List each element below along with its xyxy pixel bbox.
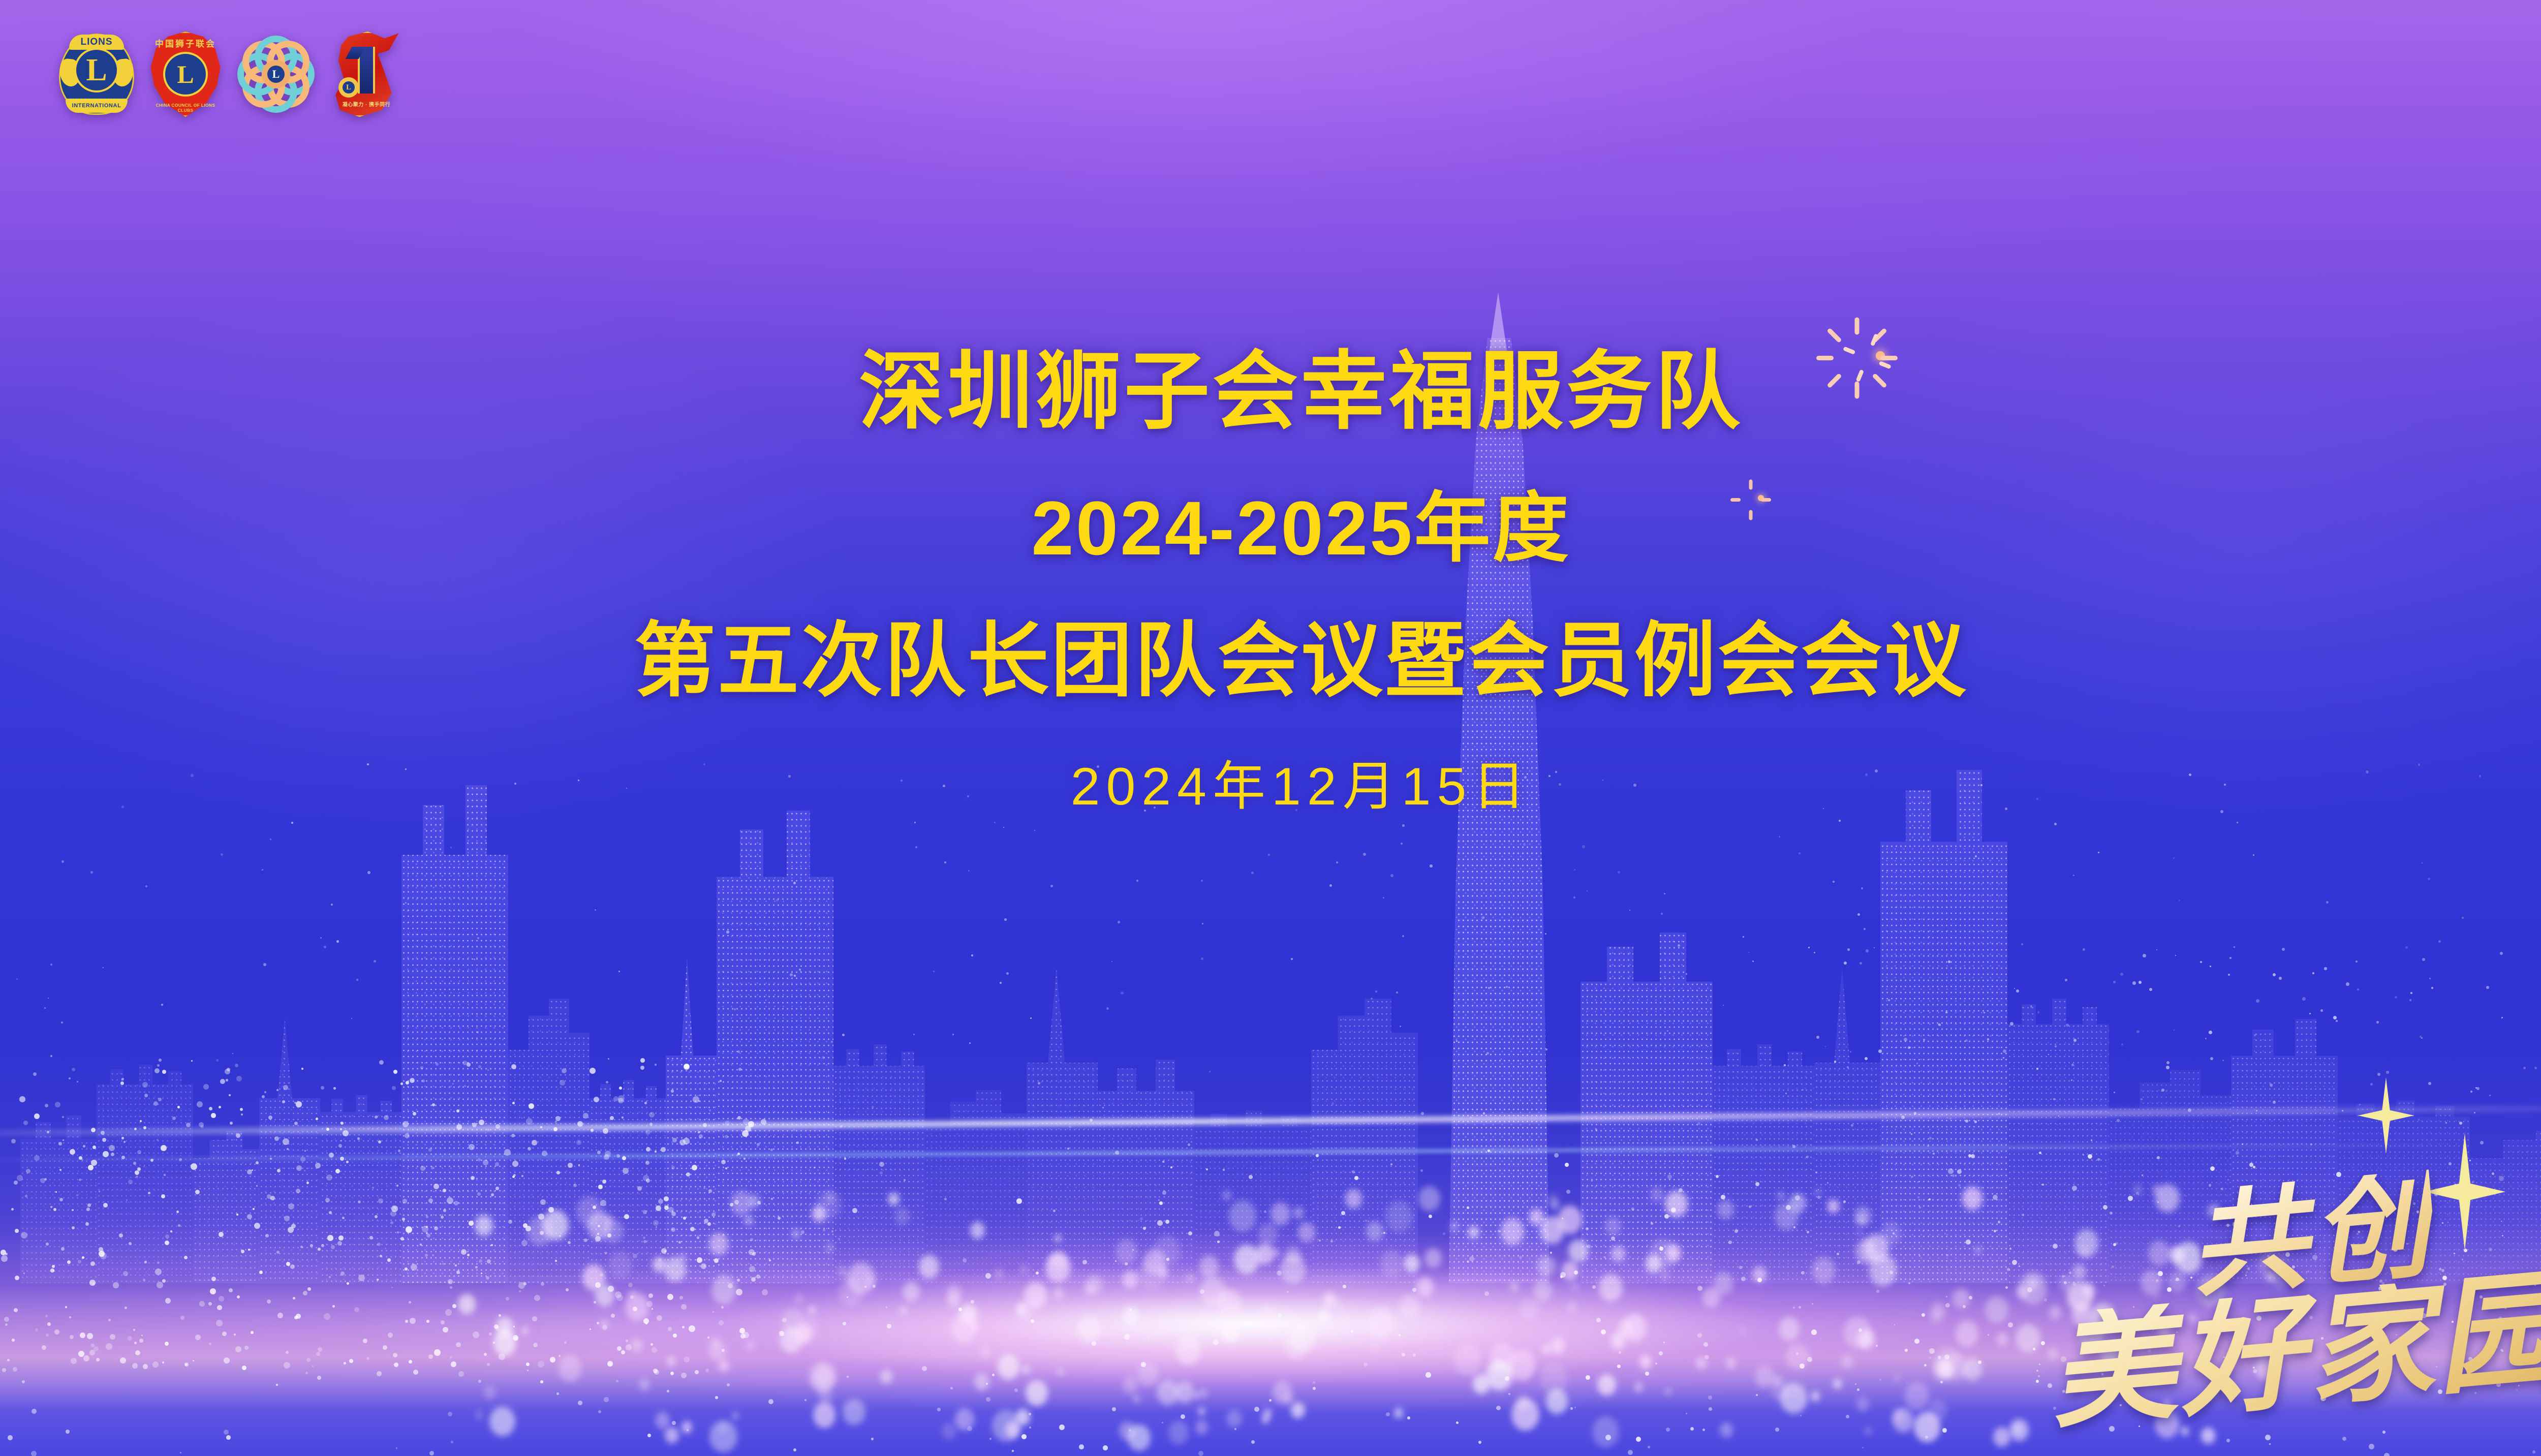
logo-china-council-lions[interactable]: 中国狮子联会 L CHINA COUNCIL OF LIONS CLUBS xyxy=(147,29,224,119)
china-council-en-text: CHINA COUNCIL OF LIONS CLUBS xyxy=(147,103,224,113)
anniversary-center-letter: L xyxy=(343,81,355,94)
logo-row: LIONS L INTERNATIONAL 中国狮子联会 L CHINA COU… xyxy=(57,28,405,120)
anniversary-slogan: 凝心聚力 · 携手同行 xyxy=(328,100,405,108)
meeting-subtitle: 第五次队长团队会议暨会员例会会议 xyxy=(634,620,1968,701)
sky-glow-left xyxy=(0,178,1016,940)
china-council-cn-text: 中国狮子联会 xyxy=(147,37,224,49)
sparkle-burst-icon xyxy=(1809,285,1951,427)
logo-shenzhen-lions-anniversary[interactable]: L 凝心聚力 · 携手同行 xyxy=(328,28,405,120)
anniversary-numeral xyxy=(358,47,375,94)
lions-bottom-text: INTERNATIONAL xyxy=(66,99,128,113)
fiscal-year-label: 2024-2025年度 xyxy=(1031,490,1570,566)
page-title: 深圳狮子会幸福服务队 xyxy=(859,349,1743,434)
mini-sparkle-icon xyxy=(1723,460,1799,536)
calligraphy-slogan: 共创 美好家园 xyxy=(2049,1186,2541,1412)
four-point-star-icon xyxy=(2358,1077,2414,1154)
meeting-date: 2024年12月15日 xyxy=(1071,760,1532,813)
rings-center-letter: L xyxy=(267,66,285,83)
logo-lions-rings-emblem[interactable]: L xyxy=(235,33,317,115)
poster-canvas: LIONS L INTERNATIONAL 中国狮子联会 L CHINA COU… xyxy=(0,0,2541,1456)
logo-lions-international[interactable]: LIONS L INTERNATIONAL xyxy=(57,30,136,118)
lions-center-letter: L xyxy=(76,50,117,90)
light-streak xyxy=(0,1104,2541,1136)
china-council-center-letter: L xyxy=(163,52,208,97)
light-streak-secondary xyxy=(0,1142,2541,1162)
